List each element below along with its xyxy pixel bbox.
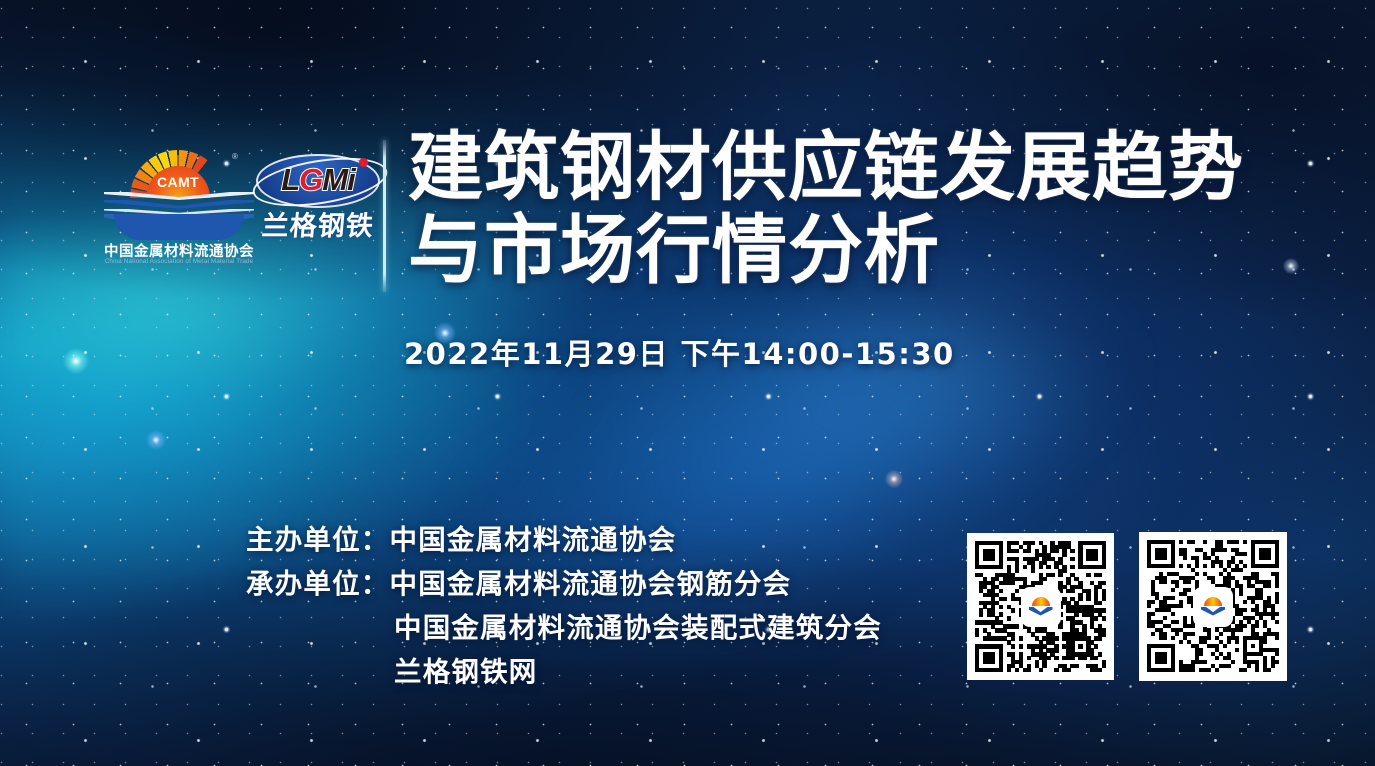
organizer-line-co-host-2: 中国金属材料流通协会装配式建筑分会 [246, 606, 966, 650]
page-title: 建筑钢材供应链发展趋势 与市场行情分析 [408, 126, 1238, 292]
registered-trademark-icon: ® [232, 152, 238, 161]
camt-logo: CAMT ® 中国金属材料流通协会 China National Associa… [104, 148, 254, 266]
qr-code-left[interactable] [967, 533, 1114, 680]
event-poster: CAMT ® 中国金属材料流通协会 China National Associa… [0, 0, 1375, 766]
organizer-block: 主办单位：中国金属材料流通协会 承办单位：中国金属材料流通协会钢筋分会 中国金属… [246, 518, 966, 694]
lgmi-chinese-name: 兰格钢铁 [254, 204, 381, 243]
lgmi-red-dot-icon [359, 158, 368, 167]
event-datetime: 2022年11月29日 下午14:00-15:30 [404, 331, 955, 373]
qr-matrix [975, 541, 1106, 672]
organizer-line-host: 主办单位：中国金属材料流通协会 [246, 518, 966, 562]
lgmi-logo: LGMi 兰格钢铁 [256, 154, 380, 256]
qr-center-logo-icon [1195, 589, 1231, 625]
logo-row: CAMT ® 中国金属材料流通协会 China National Associa… [88, 148, 378, 268]
organizer-line-co-host-3: 兰格钢铁网 [246, 650, 966, 694]
qr-code-right[interactable] [1139, 532, 1287, 681]
qr-matrix [1147, 540, 1279, 673]
qr-center-logo-icon [1023, 589, 1059, 625]
vertical-divider [383, 140, 386, 292]
title-line-2: 与市场行情分析 [408, 209, 1238, 292]
organizer-line-co-host-1: 承办单位：中国金属材料流通协会钢筋分会 [246, 562, 966, 606]
logo-base-shape [114, 214, 244, 240]
camt-english-name: China National Association of Metal Mate… [92, 258, 266, 265]
title-line-1: 建筑钢材供应链发展趋势 [408, 126, 1238, 209]
camt-wordmark: CAMT [146, 174, 210, 190]
